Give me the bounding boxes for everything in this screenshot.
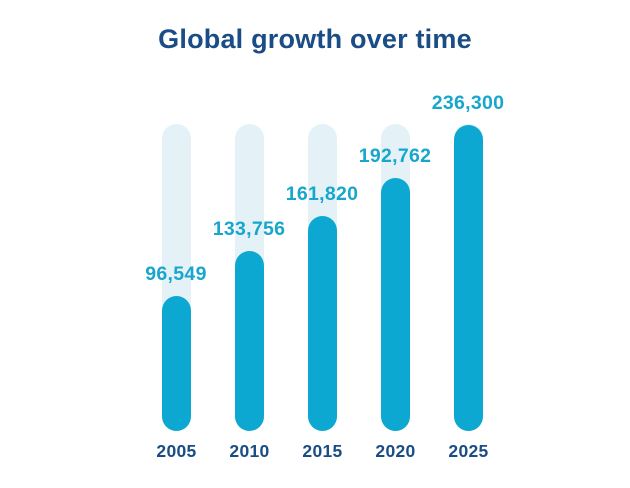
x-axis-label-2025: 2025 xyxy=(432,441,505,462)
bar-group: 133,7562010 xyxy=(213,0,286,488)
x-axis-label-2010: 2010 xyxy=(213,441,286,462)
bar-2010[interactable] xyxy=(235,251,264,431)
x-axis-label-2020: 2020 xyxy=(359,441,432,462)
bar-2015[interactable] xyxy=(308,216,337,431)
bar-group: 236,3002025 xyxy=(432,0,505,488)
x-axis-label-2005: 2005 xyxy=(140,441,213,462)
bar-2025[interactable] xyxy=(454,125,483,431)
bar-group: 192,7622020 xyxy=(359,0,432,488)
bar-2020[interactable] xyxy=(381,178,410,431)
chart-container: Global growth over time 96,5492005133,75… xyxy=(0,0,630,488)
plot-area: 96,5492005133,7562010161,8202015192,7622… xyxy=(0,0,630,488)
bar-value-label: 236,300 xyxy=(393,92,543,115)
bar-group: 161,8202015 xyxy=(286,0,359,488)
bar-2005[interactable] xyxy=(162,296,191,431)
bar-group: 96,5492005 xyxy=(140,0,213,488)
x-axis-label-2015: 2015 xyxy=(286,441,359,462)
